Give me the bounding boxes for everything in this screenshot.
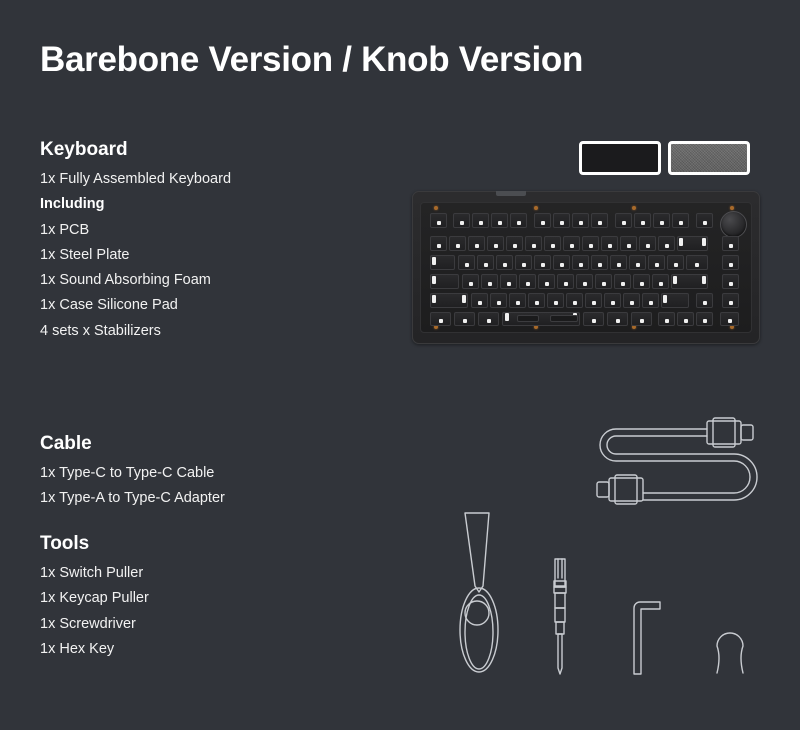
switch-socket-nav xyxy=(722,293,739,308)
switch-socket xyxy=(477,255,494,270)
screw-post xyxy=(534,206,538,210)
section-tools: Tools 1x Switch Puller 1x Keycap Puller … xyxy=(40,532,149,662)
stabilizer xyxy=(663,295,667,303)
stabilizer xyxy=(462,295,466,303)
switch-socket xyxy=(553,255,570,270)
switch-socket xyxy=(686,255,708,270)
spacebar-plate-cutout xyxy=(550,315,578,322)
switch-puller-icon xyxy=(458,508,500,674)
list-item: 1x Hex Key xyxy=(40,637,149,662)
switch-socket xyxy=(430,213,447,228)
switch-socket xyxy=(544,236,561,251)
switch-socket xyxy=(576,274,593,289)
screw-post xyxy=(632,206,636,210)
keycap-puller-icon xyxy=(710,622,750,676)
switch-socket xyxy=(462,274,479,289)
switch-socket xyxy=(610,255,627,270)
stabilizer xyxy=(432,257,436,265)
switch-socket xyxy=(453,213,470,228)
switch-socket-arrow-down xyxy=(677,312,694,326)
switch-socket xyxy=(458,255,475,270)
switch-socket xyxy=(667,255,684,270)
section-keyboard: Keyboard 1x Fully Assembled Keyboard Inc… xyxy=(40,138,370,344)
switch-socket xyxy=(642,293,659,308)
switch-socket xyxy=(583,312,604,326)
switch-socket xyxy=(623,293,640,308)
color-swatch-silver-gray[interactable] xyxy=(668,141,750,175)
switch-socket xyxy=(487,236,504,251)
switch-socket xyxy=(553,213,570,228)
switch-socket-nav xyxy=(722,274,739,289)
switch-socket-arrow-up xyxy=(696,293,713,308)
switch-socket xyxy=(614,274,631,289)
stabilizer xyxy=(432,295,436,303)
barebone-keyboard-illustration xyxy=(412,191,760,344)
stabilizer xyxy=(679,238,683,246)
switch-socket xyxy=(639,236,656,251)
package-contents-page: Barebone Version / Knob Version Keyboard… xyxy=(0,0,800,730)
switch-socket xyxy=(525,236,542,251)
switch-socket xyxy=(430,236,447,251)
switch-socket xyxy=(481,274,498,289)
switch-socket xyxy=(510,213,527,228)
list-item: 1x Switch Puller xyxy=(40,561,149,586)
switch-socket xyxy=(506,236,523,251)
list-item: 1x Fully Assembled Keyboard xyxy=(40,167,370,192)
switch-socket xyxy=(449,236,466,251)
switch-socket xyxy=(722,255,739,270)
list-item: 1x Steel Plate xyxy=(40,243,370,268)
switch-socket xyxy=(652,274,669,289)
usb-port-cutout xyxy=(496,191,526,196)
stabilizer xyxy=(673,276,677,284)
hex-key-icon xyxy=(630,598,664,678)
switch-socket xyxy=(491,213,508,228)
switch-socket xyxy=(468,236,485,251)
switch-socket xyxy=(633,274,650,289)
list-item: 1x PCB xyxy=(40,218,370,243)
switch-socket xyxy=(585,293,602,308)
list-item: 1x Keycap Puller xyxy=(40,586,149,611)
switch-socket xyxy=(591,255,608,270)
switch-socket xyxy=(557,274,574,289)
switch-socket xyxy=(722,236,739,251)
switch-socket xyxy=(515,255,532,270)
switch-socket xyxy=(620,236,637,251)
stabilizer xyxy=(505,313,509,321)
switch-socket xyxy=(604,293,621,308)
screw-post xyxy=(434,206,438,210)
switch-socket xyxy=(615,213,632,228)
switch-socket-nav xyxy=(720,312,739,326)
section-cable: Cable 1x Type-C to Type-C Cable 1x Type-… xyxy=(40,432,225,512)
switch-socket xyxy=(500,274,517,289)
rotary-knob[interactable] xyxy=(720,211,747,238)
switch-socket xyxy=(471,293,488,308)
switch-socket xyxy=(672,213,689,228)
usb-c-cable-icon xyxy=(580,415,770,507)
switch-socket xyxy=(601,236,618,251)
switch-socket xyxy=(478,312,499,326)
switch-socket xyxy=(430,312,451,326)
switch-socket xyxy=(472,213,489,228)
list-item-including: Including xyxy=(40,192,370,217)
switch-socket xyxy=(454,312,475,326)
switch-socket-arrow-left xyxy=(658,312,675,326)
switch-socket xyxy=(534,213,551,228)
switch-socket xyxy=(631,312,652,326)
switch-socket xyxy=(528,293,545,308)
stabilizer xyxy=(702,238,706,246)
switch-socket xyxy=(572,255,589,270)
list-item: 1x Case Silicone Pad xyxy=(40,293,370,318)
switch-socket xyxy=(572,213,589,228)
list-item: 1x Type-A to Type-C Adapter xyxy=(40,486,225,511)
list-item: 1x Screwdriver xyxy=(40,612,149,637)
switch-socket xyxy=(653,213,670,228)
section-heading-keyboard: Keyboard xyxy=(40,138,370,162)
switch-socket-arrow-right xyxy=(696,312,713,326)
switch-socket xyxy=(591,213,608,228)
switch-socket xyxy=(566,293,583,308)
switch-socket xyxy=(509,293,526,308)
stabilizer xyxy=(432,276,436,284)
section-heading-tools: Tools xyxy=(40,532,149,556)
spacebar-plate-cutout xyxy=(517,315,539,322)
switch-socket xyxy=(547,293,564,308)
screwdriver-icon xyxy=(549,556,571,678)
switch-socket xyxy=(538,274,555,289)
color-swatch-carbon-black[interactable] xyxy=(579,141,661,175)
switch-socket xyxy=(490,293,507,308)
stabilizer xyxy=(702,276,706,284)
switch-socket xyxy=(658,236,675,251)
switch-socket xyxy=(696,213,713,228)
switch-socket xyxy=(634,213,651,228)
list-item: 1x Sound Absorbing Foam xyxy=(40,268,370,293)
switch-socket xyxy=(595,274,612,289)
list-item: 1x Type-C to Type-C Cable xyxy=(40,461,225,486)
contents-text-column: Keyboard 1x Fully Assembled Keyboard Inc… xyxy=(40,138,370,344)
switch-socket xyxy=(496,255,513,270)
switch-socket xyxy=(648,255,665,270)
switch-socket xyxy=(607,312,628,326)
list-item: 4 sets x Stabilizers xyxy=(40,319,370,344)
switch-socket xyxy=(629,255,646,270)
switch-socket xyxy=(519,274,536,289)
switch-socket xyxy=(534,255,551,270)
switch-socket xyxy=(582,236,599,251)
switch-socket xyxy=(563,236,580,251)
section-heading-cable: Cable xyxy=(40,432,225,456)
page-title: Barebone Version / Knob Version xyxy=(40,40,583,80)
screw-post xyxy=(730,206,734,210)
